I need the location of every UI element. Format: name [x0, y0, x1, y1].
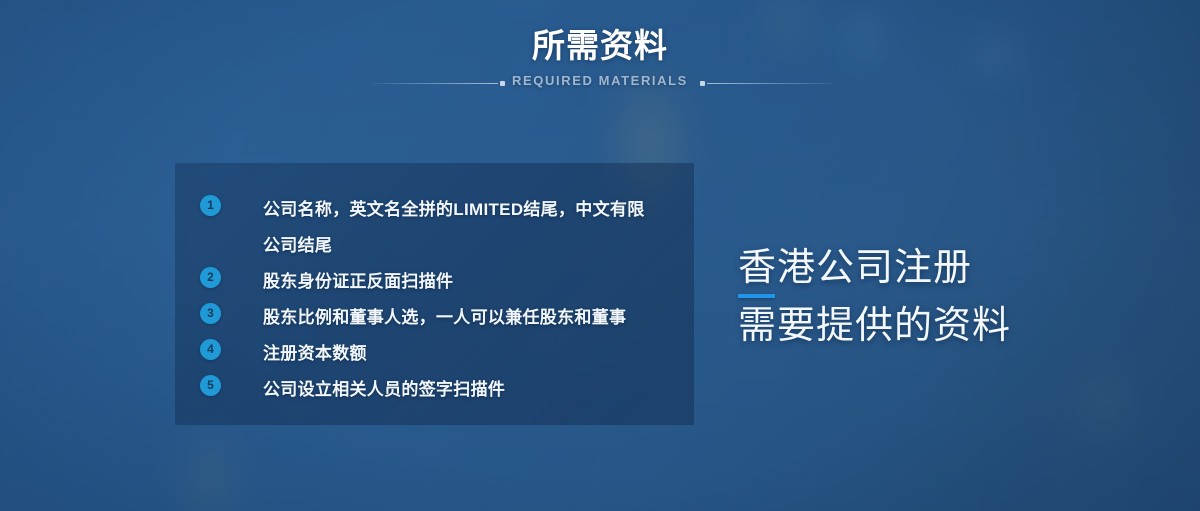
right-heading-accent-rule — [738, 294, 775, 298]
list-item-number-badge: 4 — [200, 339, 221, 360]
decoration-dot-left — [500, 81, 505, 86]
list-item: 3 股东比例和董事人选，一人可以兼任股东和董事 — [200, 300, 670, 336]
list-item-number-badge: 3 — [200, 303, 221, 324]
materials-panel: 1 公司名称，英文名全拼的LIMITED结尾，中文有限 公司结尾 2 股东身份证… — [175, 163, 694, 425]
decoration-line-left — [372, 83, 498, 84]
required-materials-banner: 所需资料 REQUIRED MATERIALS 1 公司名称，英文名全拼的LIM… — [0, 0, 1200, 511]
list-item-number-badge: 2 — [200, 267, 221, 288]
list-item: 2 股东身份证正反面扫描件 — [200, 264, 670, 300]
list-item-number-badge: 5 — [200, 375, 221, 396]
title-decoration-right — [700, 80, 833, 87]
list-item-text: 公司名称，英文名全拼的LIMITED结尾，中文有限 公司结尾 — [263, 192, 670, 264]
list-item-text: 注册资本数额 — [263, 336, 670, 372]
list-item: 5 公司设立相关人员的签字扫描件 — [200, 372, 670, 408]
right-heading-block: 香港公司注册 需要提供的资料 — [738, 246, 1068, 348]
decoration-line-right — [707, 83, 833, 84]
page-title: 所需资料 — [0, 26, 1200, 66]
list-item-text: 股东比例和董事人选，一人可以兼任股东和董事 — [263, 300, 670, 336]
list-item: 1 公司名称，英文名全拼的LIMITED结尾，中文有限 公司结尾 — [200, 192, 670, 264]
page-subtitle: REQUIRED MATERIALS — [0, 72, 1200, 90]
list-item: 4 注册资本数额 — [200, 336, 670, 372]
decoration-dot-right — [700, 81, 705, 86]
list-item-number-badge: 1 — [200, 195, 221, 216]
list-item-text: 公司设立相关人员的签字扫描件 — [263, 372, 670, 408]
right-heading-line-2: 需要提供的资料 — [738, 304, 1068, 348]
list-item-text: 股东身份证正反面扫描件 — [263, 264, 670, 300]
materials-list: 1 公司名称，英文名全拼的LIMITED结尾，中文有限 公司结尾 2 股东身份证… — [200, 192, 670, 408]
right-heading-line-1: 香港公司注册 — [738, 246, 1068, 290]
title-decoration-left — [372, 80, 505, 87]
